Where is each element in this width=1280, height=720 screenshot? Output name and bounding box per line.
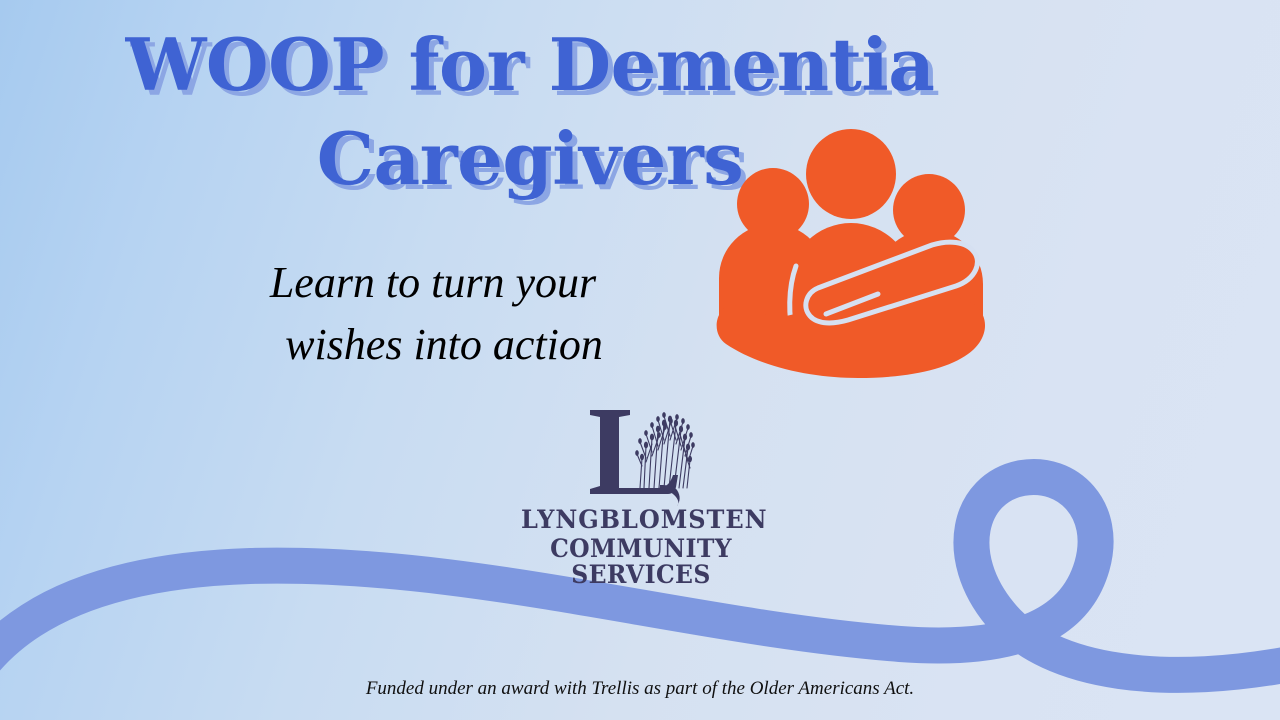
people-in-hand-icon [710,126,992,380]
slide-canvas: WOOP for Dementia Caregivers Learn to tu… [0,0,1280,720]
funding-disclaimer: Funded under an award with Trellis as pa… [366,678,914,699]
footer: Funded under an award with Trellis as pa… [0,678,1280,700]
subtitle-line-2: wishes into action [212,314,660,376]
page-title-line-1: WOOP for Dementia [0,18,1060,112]
subtitle-line-1: Learn to turn your [212,252,660,314]
subtitle: Learn to turn your wishes into action [212,252,660,377]
logo-text-line-2: COMMUNITY SERVICES [524,536,759,589]
logo-text-line-1: LYNGBLOMSTEN [521,507,761,534]
lyngblomsten-l-heather-logo-mark [582,402,700,507]
lyngblomsten-logo: LYNGBLOMSTEN COMMUNITY SERVICES [516,402,766,589]
